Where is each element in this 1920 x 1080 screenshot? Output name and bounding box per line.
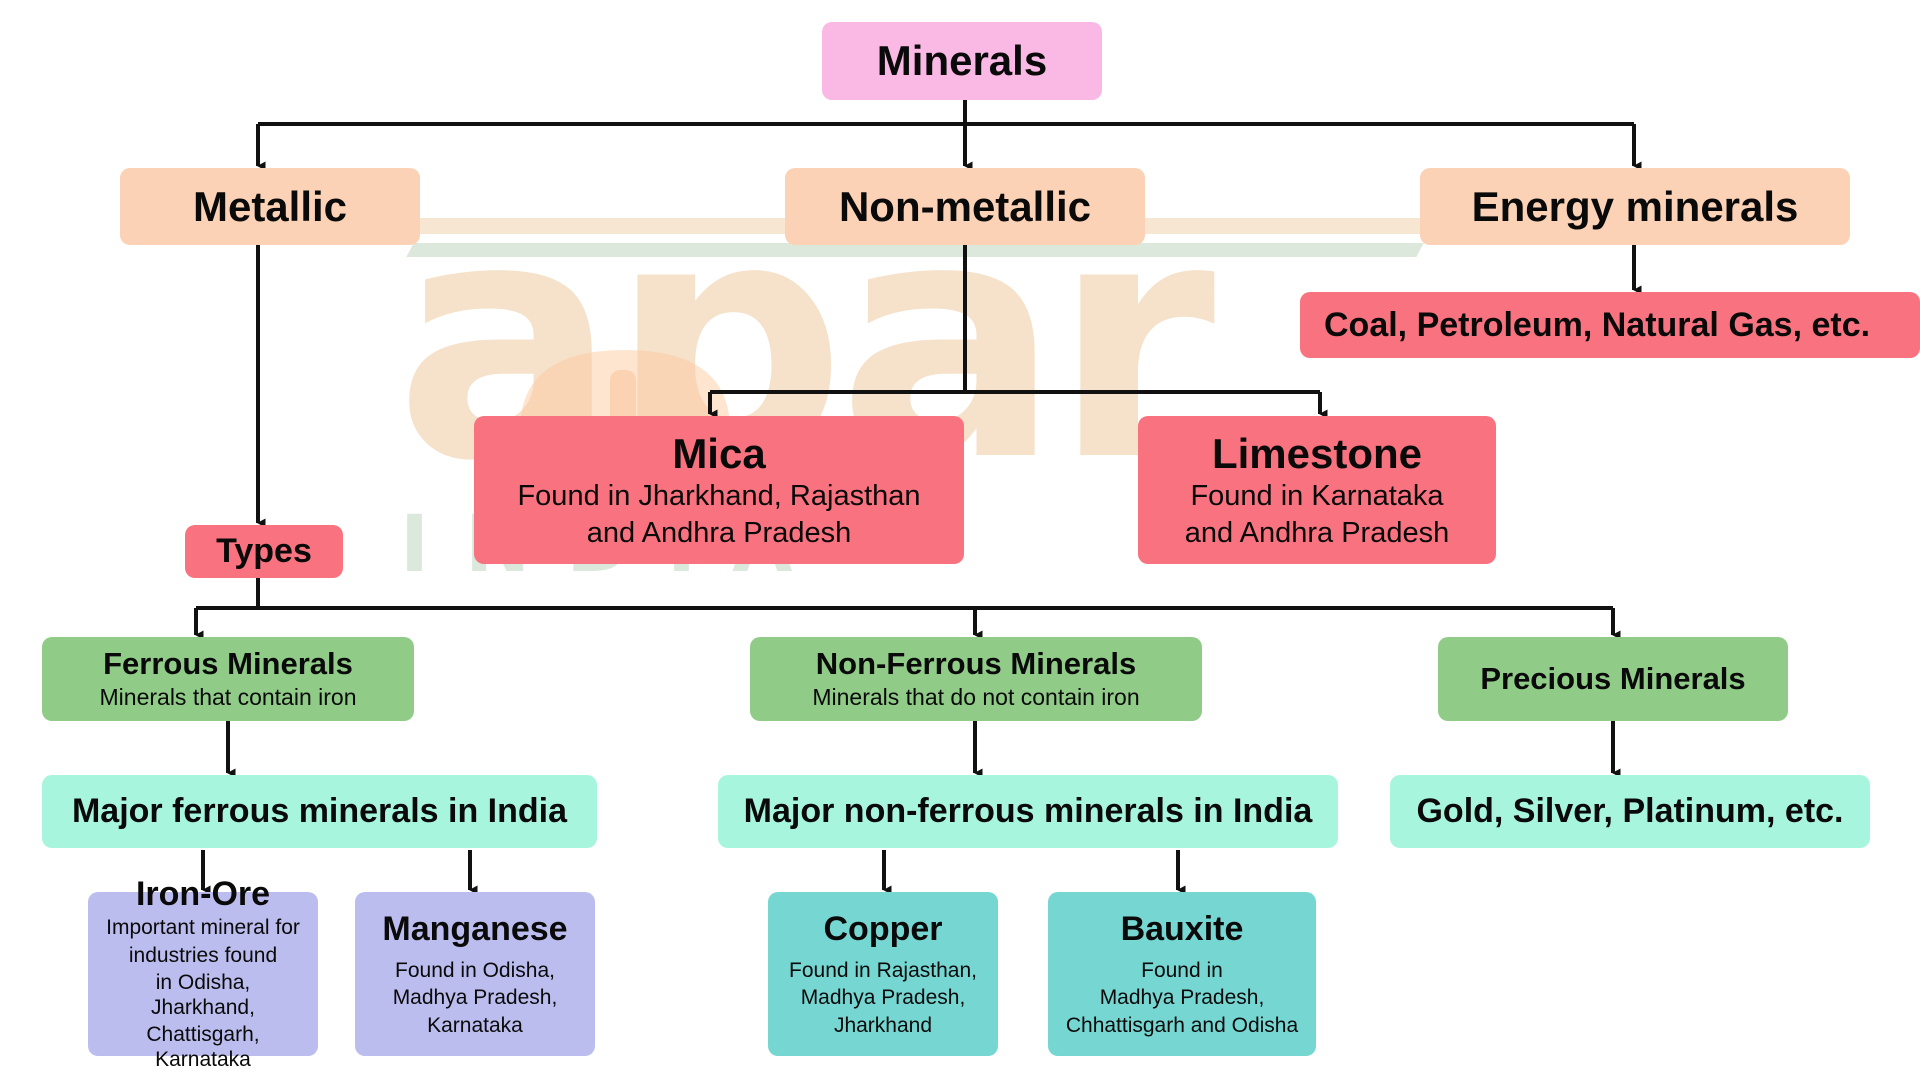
- node-copper-desc-line2: Madhya Pradesh,: [801, 985, 966, 1010]
- node-energy-minerals-list-label: Coal, Petroleum, Natural Gas, etc.: [1324, 306, 1870, 344]
- node-bauxite-desc-line1: Found in: [1141, 958, 1223, 983]
- node-metallic[interactable]: Metallic: [120, 168, 420, 245]
- node-ferrous-minerals-desc: Minerals that contain iron: [100, 684, 357, 712]
- node-iron-ore-desc-line2: industries found: [129, 943, 277, 968]
- node-types[interactable]: Types: [185, 525, 343, 578]
- node-mica-label: Mica: [672, 430, 765, 477]
- node-bauxite-label: Bauxite: [1121, 910, 1244, 948]
- node-iron-ore-desc-line1: Important mineral for: [106, 915, 300, 940]
- node-limestone-label: Limestone: [1212, 430, 1422, 477]
- node-copper-desc-line1: Found in Rajasthan,: [789, 958, 977, 983]
- node-mica-desc-line2: and Andhra Pradesh: [587, 516, 851, 551]
- node-energy-minerals-list[interactable]: Coal, Petroleum, Natural Gas, etc.: [1300, 292, 1920, 358]
- node-types-label: Types: [216, 532, 312, 570]
- node-metallic-label: Metallic: [193, 183, 347, 230]
- node-non-ferrous-minerals-desc: Minerals that do not contain iron: [812, 684, 1139, 712]
- node-manganese-desc-line2: Madhya Pradesh,: [393, 985, 558, 1010]
- node-copper[interactable]: Copper Found in Rajasthan, Madhya Prades…: [768, 892, 998, 1056]
- node-limestone-desc-line1: Found in Karnataka: [1190, 479, 1443, 514]
- node-energy-minerals[interactable]: Energy minerals: [1420, 168, 1850, 245]
- node-non-ferrous-minerals-label: Non-Ferrous Minerals: [816, 647, 1136, 682]
- node-major-non-ferrous-minerals[interactable]: Major non-ferrous minerals in India: [718, 775, 1338, 848]
- node-manganese-desc-line1: Found in Odisha,: [395, 958, 555, 983]
- node-mica[interactable]: Mica Found in Jharkhand, Rajasthan and A…: [474, 416, 964, 564]
- node-non-ferrous-minerals[interactable]: Non-Ferrous Minerals Minerals that do no…: [750, 637, 1202, 721]
- node-limestone[interactable]: Limestone Found in Karnataka and Andhra …: [1138, 416, 1496, 564]
- node-precious-minerals[interactable]: Precious Minerals: [1438, 637, 1788, 721]
- node-ferrous-minerals-label: Ferrous Minerals: [103, 647, 353, 682]
- node-precious-minerals-list-label: Gold, Silver, Platinum, etc.: [1416, 792, 1843, 830]
- node-iron-ore-desc-line3: in Odisha, Jharkhand,: [102, 970, 304, 1020]
- node-manganese[interactable]: Manganese Found in Odisha, Madhya Prades…: [355, 892, 595, 1056]
- node-manganese-label: Manganese: [382, 910, 567, 948]
- node-ferrous-minerals[interactable]: Ferrous Minerals Minerals that contain i…: [42, 637, 414, 721]
- node-minerals-label: Minerals: [877, 37, 1047, 84]
- node-precious-minerals-list[interactable]: Gold, Silver, Platinum, etc.: [1390, 775, 1870, 848]
- node-precious-minerals-label: Precious Minerals: [1480, 662, 1745, 697]
- node-minerals[interactable]: Minerals: [822, 22, 1102, 100]
- node-bauxite-desc-line2: Madhya Pradesh,: [1100, 985, 1265, 1010]
- node-major-ferrous-minerals-label: Major ferrous minerals in India: [72, 792, 567, 830]
- node-non-metallic[interactable]: Non-metallic: [785, 168, 1145, 245]
- node-copper-label: Copper: [824, 910, 943, 948]
- node-manganese-desc-line3: Karnataka: [427, 1013, 523, 1038]
- node-limestone-desc-line2: and Andhra Pradesh: [1185, 516, 1449, 551]
- node-bauxite-desc-line3: Chhattisgarh and Odisha: [1066, 1013, 1298, 1038]
- node-bauxite[interactable]: Bauxite Found in Madhya Pradesh, Chhatti…: [1048, 892, 1316, 1056]
- diagram-canvas: apar INDIA: [0, 0, 1920, 1080]
- node-energy-minerals-label: Energy minerals: [1472, 183, 1799, 230]
- node-mica-desc-line1: Found in Jharkhand, Rajasthan: [517, 479, 920, 514]
- node-iron-ore[interactable]: Iron-Ore Important mineral for industrie…: [88, 892, 318, 1056]
- node-iron-ore-desc-line4: Chattisgarh, Karnataka: [102, 1022, 304, 1072]
- node-major-ferrous-minerals[interactable]: Major ferrous minerals in India: [42, 775, 597, 848]
- node-major-non-ferrous-minerals-label: Major non-ferrous minerals in India: [744, 792, 1313, 830]
- node-copper-desc-line3: Jharkhand: [834, 1013, 932, 1038]
- node-non-metallic-label: Non-metallic: [839, 183, 1091, 230]
- node-iron-ore-label: Iron-Ore: [136, 875, 270, 913]
